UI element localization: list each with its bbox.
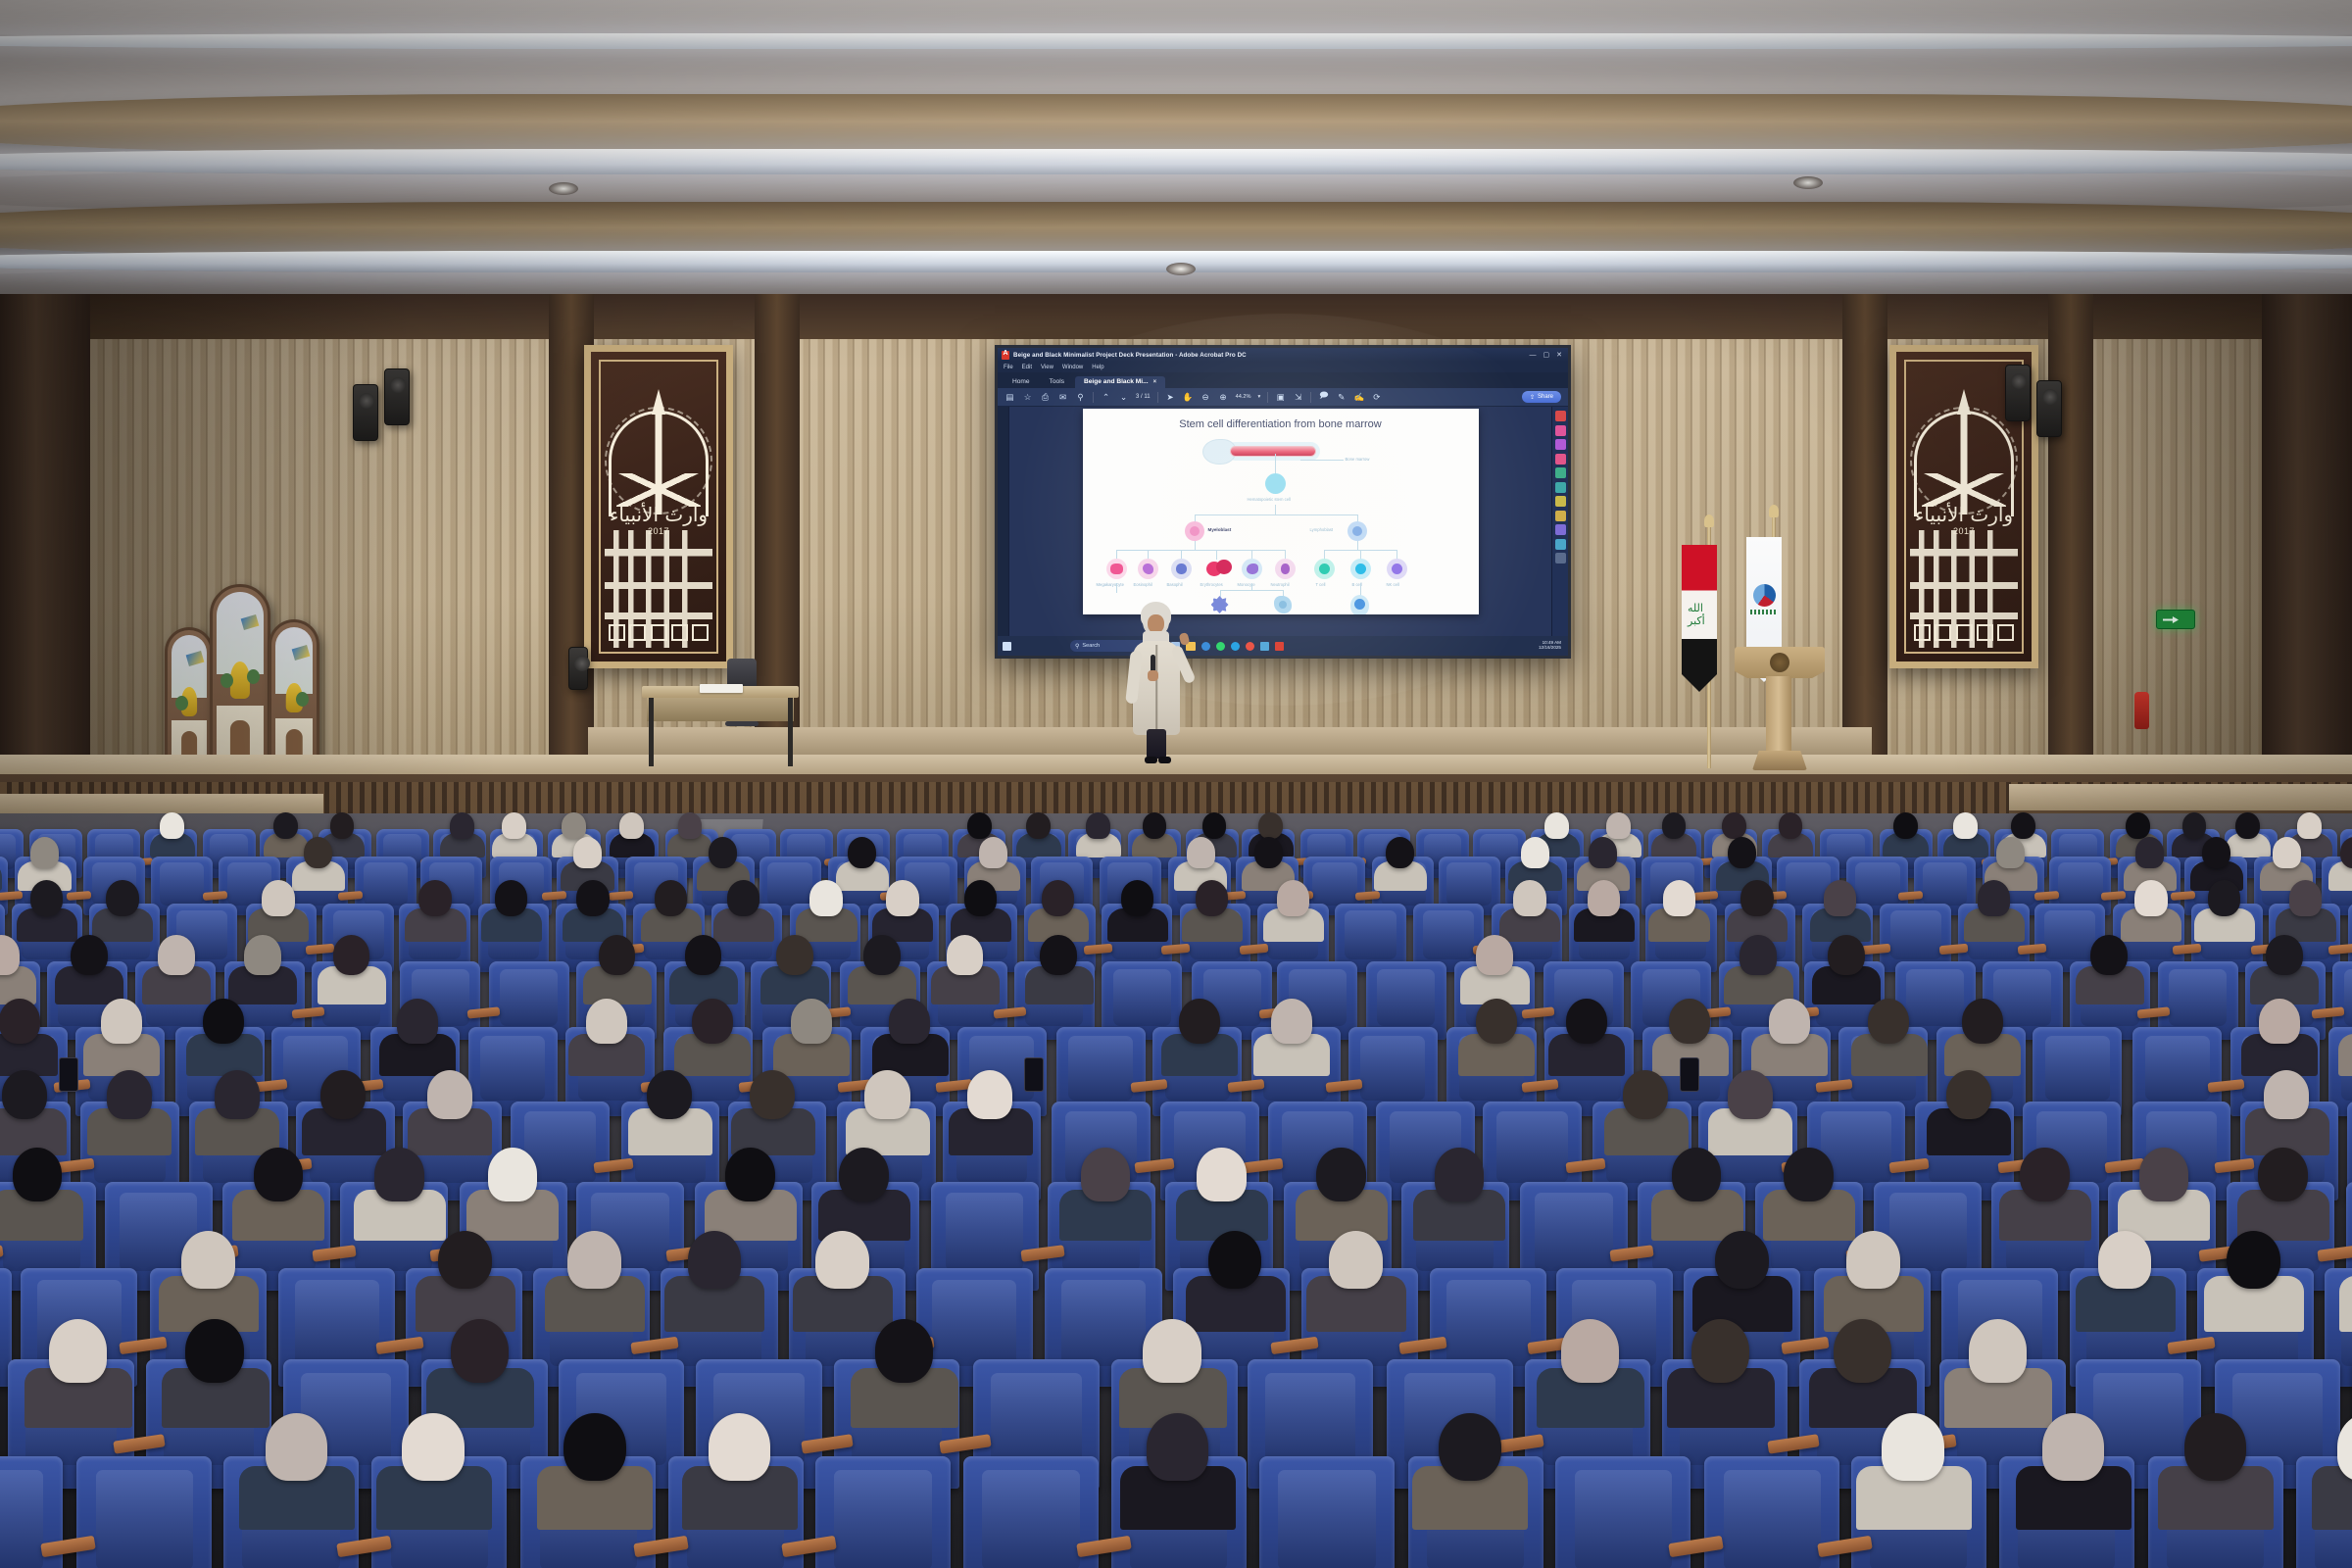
label-lymphoblast: Lymphoblast: [1310, 527, 1334, 532]
audience-member-head: [2126, 812, 2150, 839]
audience-member-head: [160, 812, 184, 839]
audience-member-head: [244, 935, 281, 975]
audience-member-head: [599, 935, 636, 975]
audience-member-head: [709, 837, 737, 868]
toolbar-separator: [1310, 392, 1311, 403]
projection-screen: Beige and Black Minimalist Project Deck …: [995, 345, 1571, 659]
audience-member-head: [1882, 1413, 1944, 1481]
compress-pdf-icon[interactable]: [1555, 482, 1566, 493]
podium-stem: [1766, 676, 1791, 753]
audience-member-head: [1784, 1148, 1834, 1201]
audience-member-head: [2042, 1413, 2105, 1481]
audience-member-head: [1121, 880, 1153, 915]
audience-member-head: [655, 880, 687, 915]
audience-member-head: [397, 999, 438, 1044]
audience-member-body: [2338, 1034, 2352, 1076]
share-button[interactable]: ⇪ Share: [1522, 391, 1561, 403]
audience-member-head: [1439, 1413, 1501, 1481]
megakaryocyte-cell: [1106, 559, 1127, 579]
audience-member-head: [1589, 837, 1617, 868]
audience-member-head: [1740, 880, 1773, 915]
emblem-spire-icon: [1957, 389, 1971, 415]
audience-member-head: [875, 1319, 933, 1382]
ceiling-led-strip-top: [0, 33, 2352, 49]
office-chair-base: [725, 721, 759, 726]
emblem-open-book-icon: [1922, 473, 2006, 507]
photos-icon[interactable]: [1260, 642, 1269, 651]
label-nk-cell: NK cell: [1387, 582, 1399, 587]
audience-member-head: [1040, 935, 1077, 975]
desk-papers: [700, 684, 743, 693]
audience-member-head: [1846, 1231, 1900, 1290]
audience-member-head: [2020, 1148, 2070, 1201]
audience-phone: [59, 1057, 78, 1092]
presenter-shoe-left: [1145, 757, 1157, 763]
redact-icon[interactable]: [1555, 496, 1566, 507]
stamp-icon[interactable]: ⟳: [1371, 392, 1382, 403]
zoom-level[interactable]: 44.2%: [1236, 394, 1251, 400]
audience-member-head: [1544, 812, 1569, 839]
hand-tool-icon[interactable]: ✋: [1183, 392, 1194, 403]
audience-member-head: [1026, 812, 1051, 839]
audience-member-head: [2, 1070, 47, 1119]
audience-member-head: [254, 1148, 304, 1201]
audience-member-head: [1086, 812, 1110, 839]
leader-line: [1300, 460, 1344, 461]
previous-page-icon[interactable]: ⌃: [1101, 392, 1111, 403]
audience-member-head: [967, 812, 992, 839]
audience-member-head: [1254, 837, 1283, 868]
podium-top: [1735, 647, 1825, 678]
audience-member-head: [863, 935, 901, 975]
audience-member-head: [2289, 880, 2322, 915]
audience-member-head: [839, 1148, 889, 1201]
audience-member-head: [13, 1148, 63, 1201]
presenter-desk-apron: [647, 696, 794, 721]
audience-member-head: [49, 1319, 107, 1382]
acrobat-title-bar: Beige and Black Minimalist Project Deck …: [998, 348, 1568, 362]
fill-and-sign-icon[interactable]: [1555, 524, 1566, 535]
audience-member-head: [1147, 1413, 1209, 1481]
audience-member-head: [1435, 1148, 1485, 1201]
audience-member-head: [158, 935, 195, 975]
audience-member-head: [185, 1319, 243, 1382]
maximize-icon[interactable]: ▢: [1543, 352, 1550, 359]
select-tool-icon[interactable]: ➤: [1165, 392, 1176, 403]
audience-member-head: [30, 837, 59, 868]
pdf-canvas[interactable]: Stem cell differentiation from bone marr…: [1009, 407, 1551, 636]
audience-member-head: [815, 1231, 869, 1290]
fire-extinguisher: [2134, 692, 2149, 729]
audience-member-head: [791, 999, 832, 1044]
menu-item-help[interactable]: Help: [1092, 365, 1103, 370]
audience-member-head: [1663, 880, 1695, 915]
audience-member-head: [2011, 812, 2035, 839]
auditorium-seat[interactable]: [76, 1456, 212, 1568]
audience-member-head: [567, 1231, 621, 1290]
erythrocyte-cell-2: [1216, 560, 1232, 574]
audience-member-head: [1329, 1231, 1383, 1290]
zoom-out-icon[interactable]: ⊖: [1200, 392, 1211, 403]
audience-member-head: [1258, 812, 1283, 839]
audience-member-head: [71, 935, 108, 975]
audience-member-head: [967, 1070, 1012, 1119]
search-placeholder: Search: [1082, 643, 1100, 649]
audience-member-head: [619, 812, 644, 839]
nk-cell: [1387, 559, 1407, 579]
slide-title: Stem cell differentiation from bone marr…: [1083, 418, 1479, 430]
audience-member-head: [273, 812, 298, 839]
tab-tools[interactable]: Tools: [1041, 376, 1073, 389]
exit-sign: [2156, 610, 2195, 629]
minimize-icon[interactable]: —: [1530, 352, 1537, 359]
taskbar-clock[interactable]: 10:49 AM 12/16/2025: [1539, 641, 1563, 651]
eosinophil-cell: [1138, 559, 1158, 579]
audience-member-head: [2098, 1231, 2152, 1290]
audience-member-head: [1969, 1319, 2027, 1382]
audience-member-head: [1588, 880, 1620, 915]
emblem-spire-icon: [652, 389, 665, 415]
audience-member-head: [107, 1070, 152, 1119]
audience-member-head: [488, 1148, 538, 1201]
audience-member-head: [692, 999, 733, 1044]
acrobat-toolbar[interactable]: ▤ ☆ ⎙ ✉ ⚲ ⌃ ⌄ 3 / 11 ➤ ✋ ⊖ ⊕ 44.2% ▾: [998, 388, 1568, 407]
audience-member-head: [964, 880, 997, 915]
search-icon: ⚲: [1075, 643, 1079, 650]
audience-member-head: [889, 999, 930, 1044]
audience-member-head: [1824, 880, 1856, 915]
audience-member-head: [1196, 880, 1228, 915]
audience-member-head: [1946, 1070, 1991, 1119]
clock-date: 12/16/2025: [1539, 646, 1561, 651]
google-chrome-icon[interactable]: [1246, 642, 1254, 651]
acrobat-body: Stem cell differentiation from bone marr…: [998, 407, 1568, 636]
branch-line: [1116, 550, 1285, 551]
audience-member-head: [1271, 999, 1312, 1044]
share-label: Share: [1538, 394, 1553, 400]
branch-line: [1275, 505, 1276, 514]
mosque-art-panels: [165, 580, 321, 776]
audience-member-head: [1561, 1319, 1619, 1382]
highlight-icon[interactable]: ✎: [1336, 392, 1347, 403]
audience-member-head: [30, 880, 63, 915]
audience-member-head: [1316, 1148, 1366, 1201]
audience-member-head: [1978, 880, 2010, 915]
audience-member-head: [1606, 812, 1631, 839]
protect-icon[interactable]: [1555, 511, 1566, 521]
wall-speaker-left-2: [353, 384, 378, 441]
share-icon: ⇪: [1530, 394, 1535, 401]
auditorium-seat[interactable]: [815, 1456, 951, 1568]
acrobat-tools-rail[interactable]: [1551, 407, 1568, 636]
audience-member-head: [886, 880, 918, 915]
emblem-open-book-icon: [616, 473, 701, 507]
auditorium-seat[interactable]: [1259, 1456, 1395, 1568]
audience-member-head: [320, 1070, 366, 1119]
audience-member-head: [647, 1070, 692, 1119]
label-monocyte: Monocyte: [1238, 582, 1255, 587]
audience-member-head: [1521, 837, 1549, 868]
basophil-cell: [1171, 559, 1192, 579]
create-pdf-icon[interactable]: [1555, 425, 1566, 436]
audience-member-head: [2273, 837, 2301, 868]
audience-member-head: [1662, 812, 1687, 839]
sign-icon[interactable]: ✍: [1353, 392, 1364, 403]
audience-member-head: [304, 837, 332, 868]
toolbar-separator: [1093, 392, 1094, 403]
audience-member-head: [576, 880, 609, 915]
audience-member-head: [495, 880, 527, 915]
export-pdf-icon[interactable]: [1555, 411, 1566, 421]
audience-member-head: [562, 812, 586, 839]
audience-member-head: [2134, 880, 2167, 915]
audience-member-head: [1476, 999, 1517, 1044]
page-indicator[interactable]: 3 / 11: [1136, 394, 1151, 400]
leader-line: [1275, 454, 1276, 475]
audience-member-body: [2339, 1276, 2352, 1332]
label-t-cell: T cell: [1316, 582, 1326, 587]
ceiling-wood-band-1: [0, 94, 2352, 155]
label-eosinophil: Eosinophil: [1134, 582, 1152, 587]
ceiling-downlight: [1166, 263, 1196, 275]
podium: [1735, 647, 1825, 774]
audience-member-head: [2139, 1148, 2189, 1201]
audience-member-head: [1476, 935, 1513, 975]
audience-member-head: [2090, 935, 2128, 975]
page-view-icon[interactable]: ▣: [1275, 392, 1286, 403]
menu-item-window[interactable]: Window: [1062, 365, 1083, 370]
label-basophil: Basophil: [1167, 582, 1183, 587]
audience-phone: [1680, 1057, 1699, 1092]
zoom-dropdown-icon[interactable]: ▾: [1257, 394, 1260, 400]
audience-member-head: [215, 1070, 260, 1119]
audience-member-head: [1868, 999, 1909, 1044]
hematopoietic-stem-cell: [1265, 473, 1286, 494]
window-controls[interactable]: — ▢ ✕: [1530, 352, 1565, 359]
floor-speaker-left: [568, 647, 588, 690]
audience-member-head: [1779, 812, 1803, 839]
audience-member-head: [203, 999, 244, 1044]
monocyte-cell: [1242, 559, 1262, 579]
edit-pdf-icon[interactable]: [1555, 439, 1566, 450]
toolbar-separator: [1267, 392, 1268, 403]
audience-member-head: [2259, 999, 2300, 1044]
audience-member-head: [262, 880, 294, 915]
audience-member-head: [374, 1148, 424, 1201]
audience-phone: [1024, 1057, 1044, 1092]
audience-member-head: [2235, 812, 2260, 839]
audience-member-head: [1728, 1070, 1773, 1119]
ceiling-led-strip-1: [0, 149, 2352, 174]
adobe-acrobat-icon[interactable]: [1275, 642, 1284, 651]
ceiling: [0, 0, 2352, 323]
menu-item-file[interactable]: File: [1004, 365, 1013, 370]
zoom-in-icon[interactable]: ⊕: [1218, 392, 1229, 403]
lymphoblast-cell: [1347, 521, 1367, 541]
branch-line: [1195, 514, 1357, 515]
seat-armrest: [2328, 944, 2352, 955]
audience-member-head: [727, 880, 759, 915]
presenter-raised-hand: [1179, 632, 1191, 646]
search-icon[interactable]: ⚲: [1075, 392, 1086, 403]
audience-member-head: [1187, 837, 1215, 868]
tab-document[interactable]: Beige and Black Mi... ×: [1075, 376, 1165, 389]
audience-member-head: [2202, 837, 2230, 868]
whatsapp-icon[interactable]: [1216, 642, 1225, 651]
bone-marrow-illustration: [1202, 439, 1316, 465]
email-icon[interactable]: ✉: [1057, 392, 1068, 403]
audience-member-head: [2184, 1413, 2247, 1481]
emblem-arabic-name: وارث الأنبياء: [607, 503, 710, 526]
window-title: Beige and Black Minimalist Project Deck …: [1013, 352, 1247, 359]
audience-member-head: [1143, 812, 1167, 839]
university-flag-text: [1750, 610, 1778, 614]
label-neutrophil: Neutrophil: [1271, 582, 1290, 587]
label-megakaryocyte: Megakaryocyte: [1097, 582, 1124, 587]
stage-step-right: [2009, 784, 2352, 813]
page-total: 11: [1144, 394, 1150, 400]
audience-member-head: [451, 1319, 509, 1382]
star-icon[interactable]: ☆: [1022, 392, 1033, 403]
audience-member-head: [1386, 837, 1414, 868]
navigation-pane[interactable]: [998, 407, 1009, 636]
audience-member-head: [0, 999, 40, 1044]
plasma-cell: [1350, 595, 1369, 614]
iraqi-flag-text: الله أكبر: [1688, 602, 1717, 627]
panel-box-row: [1914, 624, 2014, 644]
audience-member-head: [2266, 935, 2303, 975]
emblem-arabic-name: وارث الأنبياء: [1912, 503, 2016, 526]
audience-member-head: [1081, 1148, 1131, 1201]
audience-member-head: [563, 1413, 626, 1481]
audience-member-head: [1566, 999, 1607, 1044]
audience-member-head: [1672, 1148, 1722, 1201]
label-bone-marrow: Bone marrow: [1346, 457, 1370, 462]
audience-member-head: [2258, 1148, 2308, 1201]
toolbar-separator: [1157, 392, 1158, 403]
page-separator: /: [1141, 394, 1143, 400]
desk-leg-right: [788, 698, 793, 766]
audience-member-head: [1739, 935, 1777, 975]
audience-member-head: [809, 880, 842, 915]
audience-member-head: [101, 999, 142, 1044]
acrobat-tab-bar[interactable]: Home Tools Beige and Black Mi... ×: [998, 372, 1568, 388]
send-for-comments-icon[interactable]: [1555, 539, 1566, 550]
close-icon[interactable]: ✕: [1556, 352, 1562, 359]
audience-member-head: [2264, 1070, 2309, 1119]
edge-dev-icon[interactable]: [1201, 642, 1210, 651]
audience-member-head: [2208, 880, 2240, 915]
iraqi-flag: الله أكبر: [1682, 545, 1717, 692]
microsoft-edge-icon[interactable]: [1231, 642, 1240, 651]
audience-member-head: [266, 1413, 328, 1481]
presenter-legs: [1147, 729, 1166, 759]
audience-member-head: [1513, 880, 1545, 915]
b-cell: [1350, 559, 1371, 579]
ceiling-downlight: [1793, 176, 1823, 189]
panel-box-row: [609, 624, 709, 644]
university-flag-emblem: [1753, 584, 1776, 607]
audience-member-head: [1208, 1231, 1262, 1290]
audience-member-head: [1728, 837, 1756, 868]
audience-member-head: [181, 1231, 235, 1290]
fit-width-icon[interactable]: ⇲: [1293, 392, 1303, 403]
auditorium-photo: وارث الأنبياء 2017 وارث الأنبياء 2017: [0, 0, 2352, 1568]
audience-member-head: [2297, 812, 2322, 839]
presenter-shoe-right: [1158, 757, 1171, 763]
neutrophil-cell: [1275, 559, 1296, 579]
adobe-acrobat-window: Beige and Black Minimalist Project Deck …: [998, 348, 1568, 656]
audience-member-head: [1722, 812, 1746, 839]
myeloblast-cell: [1185, 521, 1204, 541]
more-tools-icon[interactable]: [1555, 553, 1566, 563]
audience-member-head: [1828, 935, 1865, 975]
tab-home[interactable]: Home: [1004, 376, 1039, 389]
windows-start-icon[interactable]: [1003, 642, 1011, 651]
presenter-mic-hand: [1148, 670, 1158, 681]
wall-speaker-right: [2005, 365, 2031, 421]
audience-member-head: [586, 999, 627, 1044]
pdf-page: Stem cell differentiation from bone marr…: [1083, 409, 1479, 614]
desk-leg-left: [649, 698, 654, 766]
branch-line: [1195, 541, 1196, 550]
comment-icon[interactable]: 🗩: [1318, 392, 1329, 403]
print-icon[interactable]: ⎙: [1040, 392, 1051, 403]
audience-member-head: [1042, 880, 1074, 915]
audience-member-head: [1834, 1319, 1891, 1382]
audience-member-head: [1893, 812, 1918, 839]
acrobat-menu-bar[interactable]: File Edit View Window Help: [998, 362, 1568, 372]
mosque-art-panel-3: [269, 619, 319, 776]
audience-member-head: [450, 812, 474, 839]
organize-pages-icon[interactable]: [1555, 467, 1566, 478]
menu-item-view[interactable]: View: [1041, 365, 1053, 370]
audience-member-head: [678, 812, 703, 839]
save-icon[interactable]: ▤: [1004, 392, 1015, 403]
presenter: [1125, 600, 1190, 766]
wall-speaker-right-2: [2036, 380, 2062, 437]
tab-document-label: Beige and Black Mi...: [1084, 378, 1149, 385]
combine-files-icon[interactable]: [1555, 454, 1566, 465]
bone-marrow-shaft: [1230, 446, 1316, 457]
label-hematopoietic-stem-cell: Hematopoietic stem cell: [1248, 497, 1291, 502]
audience-member-head: [1715, 1231, 1769, 1290]
audience-member-head: [688, 1231, 742, 1290]
tab-close-icon[interactable]: ×: [1153, 379, 1157, 385]
audience-member-head: [1179, 999, 1220, 1044]
audience-member-head: [402, 1413, 465, 1481]
audience-member-head: [1277, 880, 1309, 915]
windows-taskbar[interactable]: ⚲ Search 10:49 AM 12/16/2025: [998, 636, 1568, 656]
audience-member-head: [330, 812, 355, 839]
adobe-acrobat-icon: [1002, 351, 1009, 360]
label-myeloblast: Myeloblast: [1208, 527, 1232, 532]
menu-item-edit[interactable]: Edit: [1022, 365, 1032, 370]
audience-member-head: [1691, 1319, 1749, 1382]
next-page-icon[interactable]: ⌄: [1118, 392, 1129, 403]
audience-member-head: [848, 837, 876, 868]
audience-member-head: [1202, 812, 1227, 839]
audience-member-head: [418, 880, 451, 915]
audience-member-head: [864, 1070, 909, 1119]
podium-emblem-icon: [1770, 653, 1789, 672]
audience-member-head: [573, 837, 602, 868]
audience-member-head: [1143, 1319, 1200, 1382]
audience-member-head: [502, 812, 526, 839]
audience-member-head: [1623, 1070, 1668, 1119]
audience-member-head: [438, 1231, 492, 1290]
page-current: 3: [1136, 394, 1139, 400]
